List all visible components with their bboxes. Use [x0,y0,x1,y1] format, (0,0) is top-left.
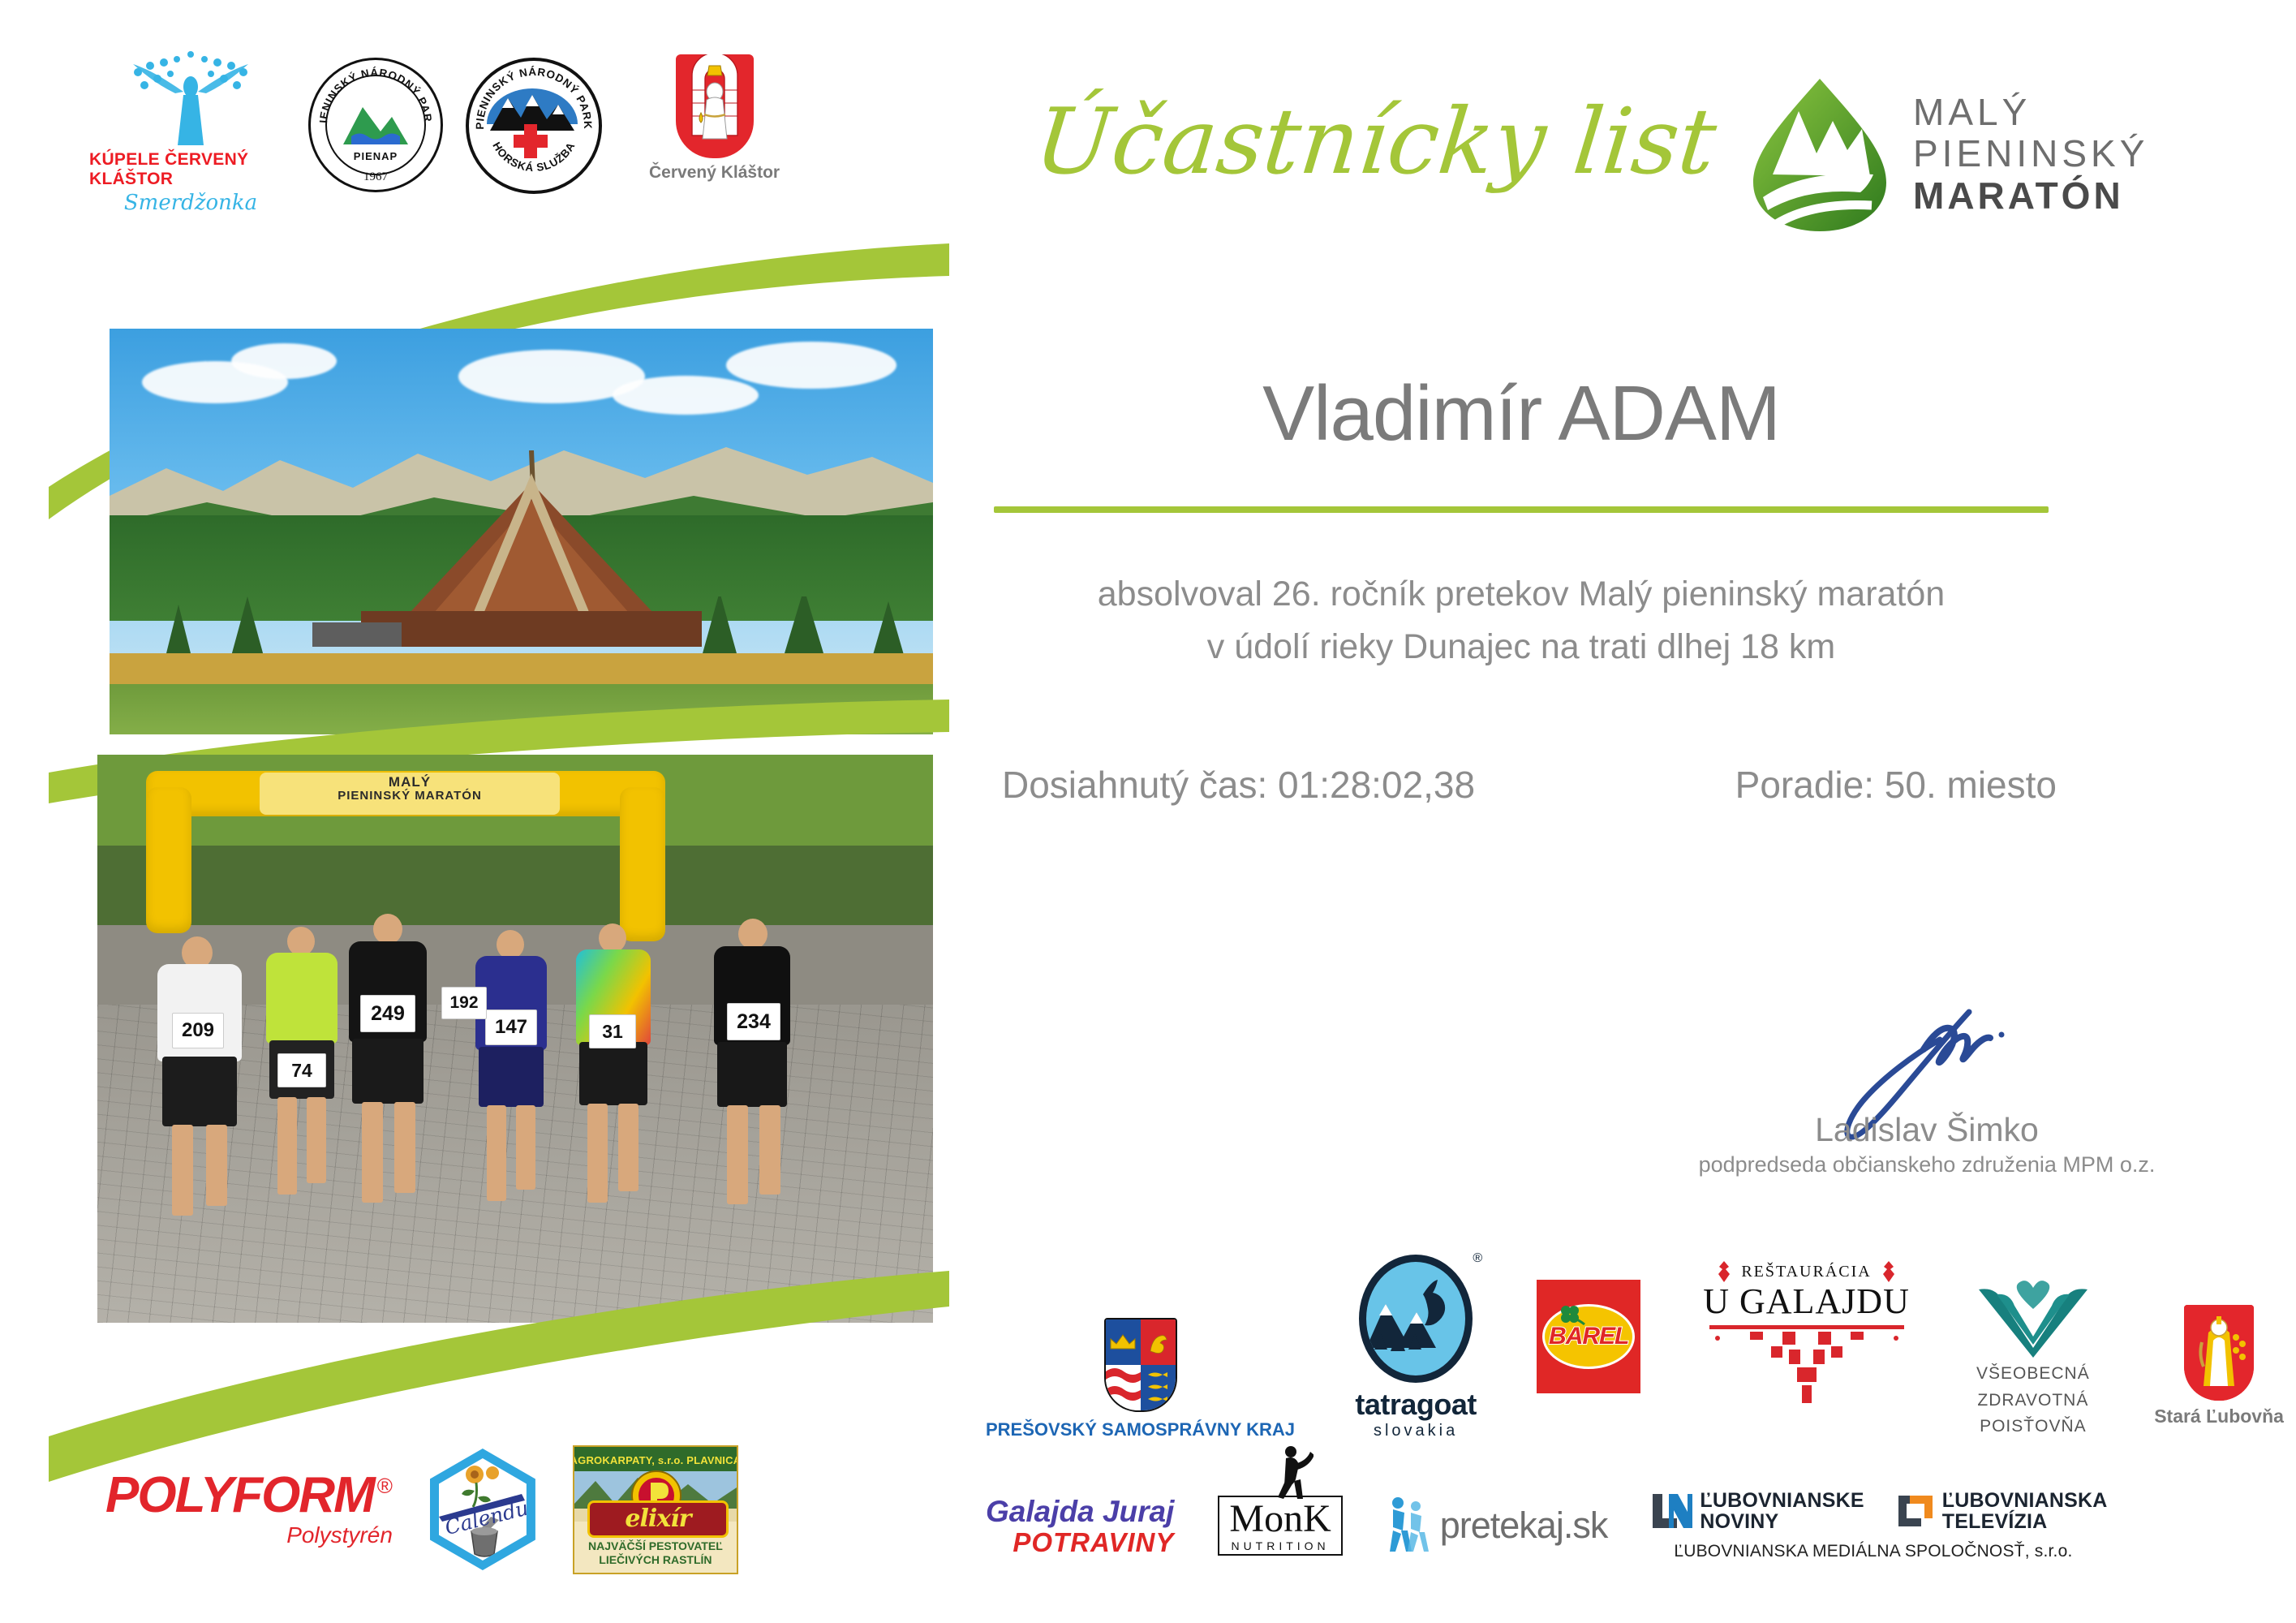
goat-mountain-icon [1366,1262,1465,1375]
pienap-year: 1967 [311,170,441,184]
cerveny-klastor-coat-of-arms [676,54,754,158]
barel-logo-icon: BAREL [1537,1280,1640,1393]
sponsor-pretekaj-sk: pretekaj.sk [1387,1495,1608,1556]
folk-ornament-icon [1880,1261,1898,1282]
lion-icon [1146,1330,1170,1354]
mpm-word-2: PIENINSKÝ [1913,134,2148,174]
wavy-bars-icon [1106,1365,1141,1410]
runner-leg [727,1105,748,1204]
sponsor-calendula: Calendula [430,1449,535,1570]
runner-shorts [717,1042,787,1107]
event-photo-panel: MALÝ PIENINSKÝ MARATÓN 209 74 249 147 [49,243,941,1461]
sponsor-lubovnianska-televizia: ĽUBOVNIANSKA TELEVÍZIA [1895,1490,2108,1533]
sponsor-presovsky-samospravny-kraj: PREŠOVSKÝ SAMOSPRÁVNY KRAJ [986,1318,1295,1441]
monk-box: MonK NUTRITION [1218,1496,1342,1556]
sponsor-vseobecna-zdravotna-poistovna: VŠEOBECNÁ ZDRAVOTNÁ POISŤOVŇA [1972,1273,2094,1440]
runner-leg [394,1102,415,1193]
psk-caption: PREŠOVSKÝ SAMOSPRÁVNY KRAJ [986,1419,1295,1441]
ltv-wordmark: ĽUBOVNIANSKA TELEVÍZIA [1942,1490,2108,1533]
sponsor-row-left: POLYFORM ® Polystyrén [105,1428,965,1591]
bib: 234 [727,1003,780,1040]
runner-leg [516,1105,535,1190]
kupele-subcaption: Smerdžonka [124,191,257,215]
runner-leg [362,1102,383,1203]
runner-head [373,914,402,945]
arch-text-line2: PIENINSKÝ MARATÓN [260,790,560,803]
title-text: Účastnícky list [1043,88,1722,195]
runner-shorts [479,1047,544,1107]
agro-line-1: NAJVÄČŠÍ PESTOVATEĽ [574,1539,737,1554]
bib: 74 [277,1053,326,1087]
stara-lubovna-coat-of-arms-icon [2184,1305,2254,1401]
sponsor-barel: BAREL [1537,1280,1640,1393]
bib: 249 [360,995,415,1032]
runner-shorts [162,1057,237,1126]
monk-sub: NUTRITION [1229,1539,1331,1552]
lms-caption: ĽUBOVNIANSKA MEDIÁLNA SPOLOČNOSŤ, s.r.o. [1674,1542,2072,1561]
galajdu-top-row: REŠTAURÁCIA [1715,1261,1897,1282]
mpm-leaf-mountain-icon [1748,75,1890,234]
pienap-inner-label: PIENAP [311,150,441,162]
sponsor-agrokarpaty-elixir: AGROKARPATY, s.r.o. PLAVNICA elixír NAJV… [573,1445,738,1574]
ln-line-2: NOVINY [1700,1511,1864,1532]
cloud [231,343,337,379]
runner-leg [587,1104,608,1203]
horska-sluzba-seal: PIENINSKÝ NÁRODNÝ PARK HORSKÁ SLUŽBA [466,58,602,194]
sponsor-row-main: PREŠOVSKÝ SAMOSPRÁVNY KRAJ ® tatragoat s… [986,1238,2284,1440]
sponsor-stara-lubovna: Stará Ľubovňa [2154,1305,2284,1427]
page-title-script: Účastnícky list [1043,77,1724,207]
athlete-name: Vladimír ADAM [994,369,2049,458]
vzp-line-2: ZDRAVOTNÁ [1976,1388,2090,1414]
monk-logo-icon: MonK NUTRITION [1218,1496,1342,1556]
agrokarpaty-bottom-caption: NAJVÄČŠÍ PESTOVATEĽ LIEČIVÝCH RASTLÍN [574,1539,737,1568]
green-divider-rule [994,506,2049,513]
sponsor-polyform: POLYFORM ® Polystyrén [105,1470,393,1548]
clover-icon [1556,1303,1585,1328]
vzp-chevron-heart-icon [1972,1273,2094,1361]
logo-horska-sluzba: PIENINSKÝ NÁRODNÝ PARK HORSKÁ SLUŽBA [466,58,602,194]
partner-logos-row: KÚPELE ČERVENÝ KLÁŠTOR Smerdžonka PIENIN… [89,45,949,231]
result-time: Dosiahnutý čas: 01:28:02,38 [1002,763,1475,807]
ln-monogram-icon [1651,1492,1693,1530]
ltv-line-2: TELEVÍZIA [1942,1511,2108,1532]
runner-head [599,923,626,953]
body-line-1: absolvoval 26. ročník pretekov Malý pien… [994,568,2049,621]
bib: 147 [485,1010,537,1045]
barel-oval: BAREL [1542,1304,1635,1369]
ln-wordmark: ĽUBOVNIANSKE NOVINY [1700,1490,1864,1533]
agrokarpaty-top-text: AGROKARPATY, s.r.o. PLAVNICA [573,1454,738,1466]
running-figure-icon [1270,1445,1314,1499]
angel-icon [105,45,276,150]
kupele-caption: KÚPELE ČERVENÝ KLÁŠTOR [89,150,292,189]
runner-shorts [352,1039,424,1104]
bib: 192 [441,987,487,1019]
runner-shorts [579,1042,647,1105]
runner-torso [266,953,338,1044]
runner-head [287,927,315,956]
mpm-word-1: MALÝ [1913,93,2148,132]
crown-icon [1109,1332,1137,1352]
cloud [613,376,759,415]
cerveny-klastor-caption: Červený Kláštor [649,163,780,183]
tatragoat-emblem-icon [1359,1255,1473,1383]
mpm-brand-logo: MALÝ PIENINSKÝ MARATÓN [1748,73,2268,235]
calendula-inner: Calendula [439,1458,527,1561]
sponsor-lubovnianske-noviny: ĽUBOVNIANSKE NOVINY [1651,1490,1864,1533]
folk-ornament-icon [1715,1261,1733,1282]
calendula-hex-icon: Calendula [430,1449,535,1570]
horska-mountain-cross-icon [487,82,578,163]
vzp-line-1: VŠEOBECNÁ [1976,1361,2090,1388]
runner-leg [618,1104,638,1191]
runner-head [497,930,524,959]
fish-field [1141,1365,1176,1410]
galajda-line-2: POTRAVINY [1013,1529,1174,1556]
start-arch-right-leg [620,787,665,941]
runner-leg [277,1097,297,1195]
galajdu-top-text: REŠTAURÁCIA [1741,1263,1871,1281]
runner-leg [759,1105,780,1195]
pretekaj-word: pretekaj.sk [1440,1505,1608,1547]
polyform-word: POLYFORM [105,1470,374,1521]
sponsor-tatragoat: ® tatragoat slovakia [1355,1255,1477,1440]
tatragoat-word: tatragoat [1355,1388,1477,1422]
waves-field [1106,1365,1141,1410]
bib: 209 [172,1013,224,1048]
certificate-body: absolvoval 26. ročník pretekov Malý pien… [994,568,2049,673]
galajdu-main-text: U GALAJDU [1703,1281,1910,1322]
signature-block: Ladislav Šimko podpredseda občianskeho z… [1627,994,2227,1177]
sponsor-galajda-juraj: Galajda Juraj POTRAVINY [986,1496,1174,1556]
logo-pienap: PIENINSKÝ NÁRODNÝ PARK PIENAP 1967 [308,58,443,192]
polyform-wordmark: POLYFORM ® [105,1470,393,1521]
fish-icon [1146,1384,1169,1391]
fish-icon [1146,1371,1169,1379]
result-place: Poradie: 50. miesto [1735,763,2057,807]
bib: 31 [589,1014,636,1048]
body-line-2: v údolí rieky Dunajec na trati dlhej 18 … [994,621,2049,674]
results-row: Dosiahnutý čas: 01:28:02,38 Poradie: 50.… [994,763,2065,807]
sponsor-lubovnianska-medialna-group: ĽUBOVNIANSKE NOVINY ĽUBOVNIANSKA TELEVÍZ… [1651,1490,2107,1562]
mpm-wordmark: MALÝ PIENINSKÝ MARATÓN [1913,93,2148,216]
agro-line-2: LIEČIVÝCH RASTLÍN [574,1553,737,1568]
sponsor-monk-nutrition: MonK NUTRITION [1218,1496,1342,1556]
monk-word: MonK [1229,1500,1331,1538]
pienap-seal: PIENINSKÝ NÁRODNÝ PARK PIENAP 1967 [308,58,443,192]
signatory-role: podpredseda občianskeho združenia MPM o.… [1627,1152,2227,1177]
media-logos-row: ĽUBOVNIANSKE NOVINY ĽUBOVNIANSKA TELEVÍZ… [1651,1490,2107,1533]
vzp-line-3: POISŤOVŇA [1976,1414,2090,1440]
photo-amphitheatre [110,329,933,734]
elixir-badge: elixír [587,1500,729,1538]
fish-icon [1146,1396,1169,1403]
psk-coat-of-arms-icon [1104,1318,1177,1412]
elixir-word: elixír [625,1505,690,1533]
tatragoat-sub: slovakia [1374,1422,1458,1440]
arch-text: MALÝ PIENINSKÝ MARATÓN [260,774,560,803]
ltv-line-1: ĽUBOVNIANSKA [1942,1490,2108,1511]
folk-pattern-icon [1701,1322,1912,1411]
vzp-caption: VŠEOBECNÁ ZDRAVOTNÁ POISŤOVŇA [1976,1361,2090,1440]
polyform-sub: Polystyrén [286,1522,393,1548]
ln-line-1: ĽUBOVNIANSKE [1700,1490,1864,1511]
signatory-name: Ladislav Šimko [1627,1111,2227,1149]
registered-mark: ® [377,1474,393,1499]
logo-kupele-cerveny-klastor: KÚPELE ČERVENÝ KLÁŠTOR Smerdžonka [89,45,292,215]
arch-text-line1: MALÝ [260,774,560,790]
logo-cerveny-klastor: Červený Kláštor [649,54,780,183]
agrokarpaty-panel-icon: AGROKARPATY, s.r.o. PLAVNICA elixír NAJV… [573,1445,738,1574]
pienap-mountain-icon [338,99,413,149]
registered-mark: ® [1473,1251,1482,1266]
galajda-line-1: Galajda Juraj [986,1496,1174,1526]
sponsor-row-secondary: Galajda Juraj POTRAVINY MonK NUTRITION [986,1465,2284,1586]
cloud [726,342,896,389]
ltv-monogram-icon [1895,1492,1936,1530]
runners-icon [1387,1495,1434,1556]
ucastnicky-list-script-text: Účastnícky list [1043,77,1724,207]
runner-head [738,919,767,949]
start-arch-left-leg [146,787,191,933]
mpm-word-3: MARATÓN [1913,176,2148,216]
sponsor-u-galajdu: REŠTAURÁCIA U GALAJDU [1701,1261,1912,1411]
runner-leg [307,1097,326,1183]
runner-leg [487,1105,506,1201]
stara-lubovna-caption: Stará Ľubovňa [2154,1406,2284,1427]
